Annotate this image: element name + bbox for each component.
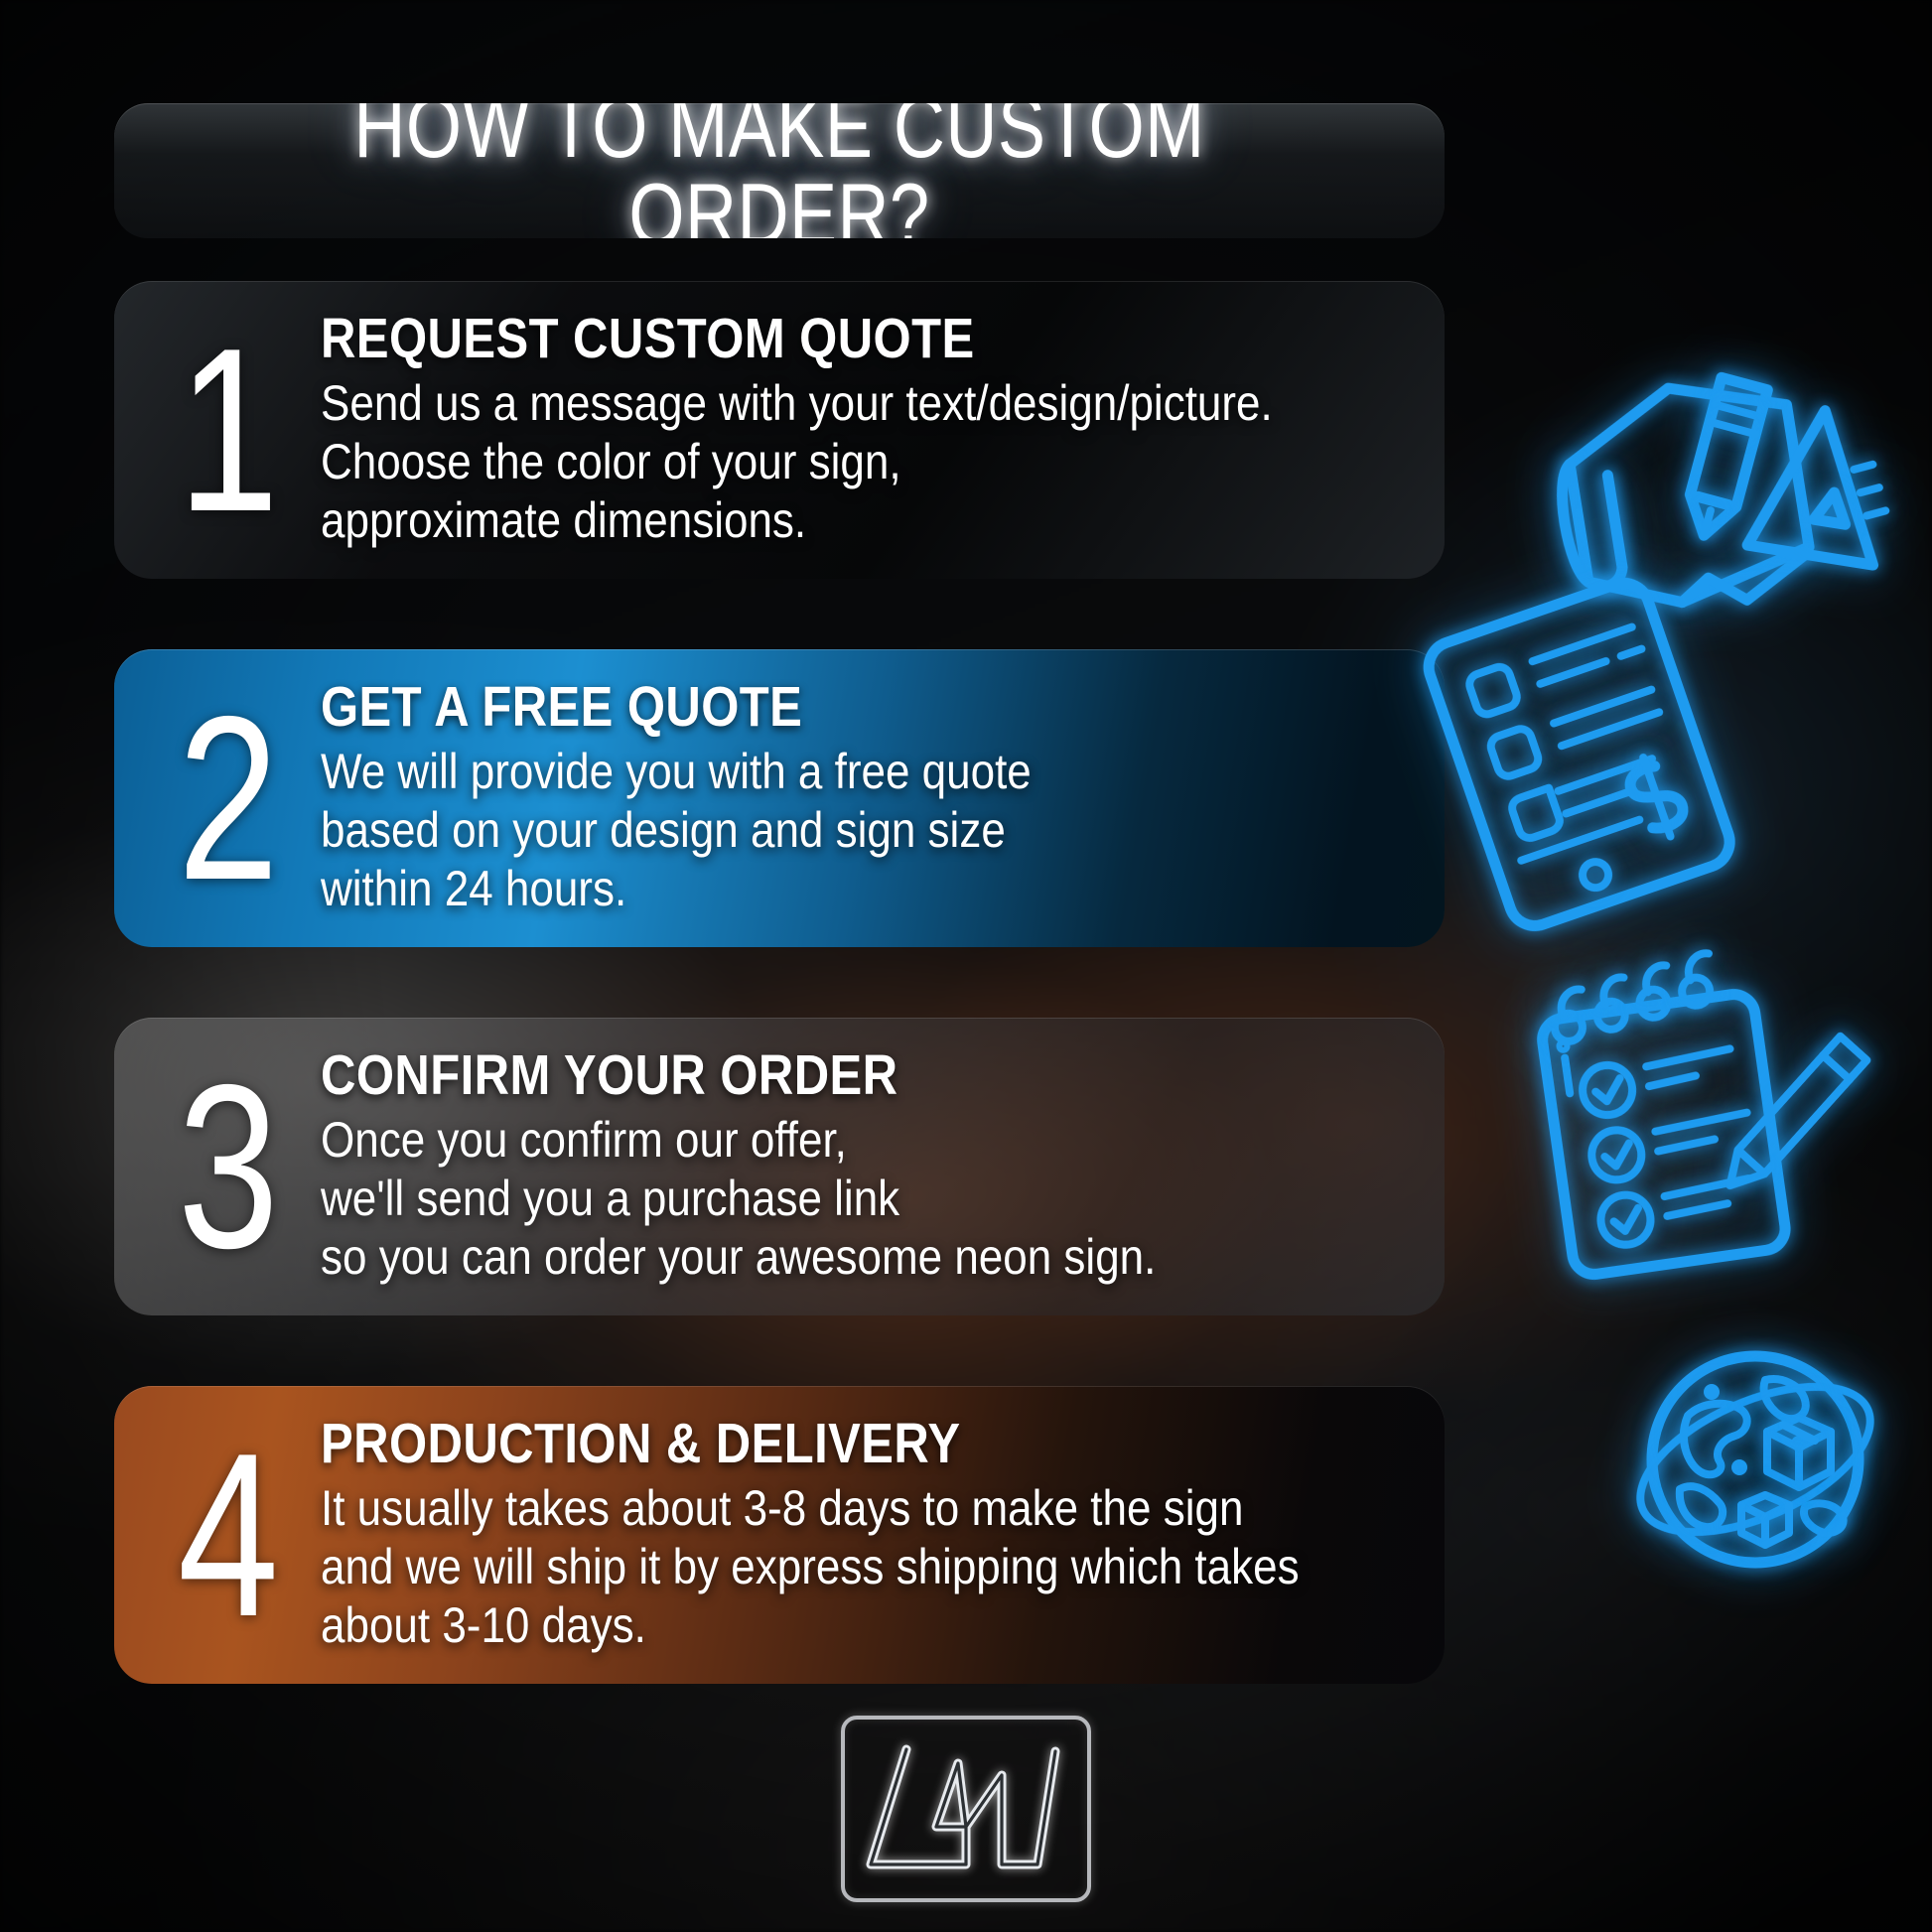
infographic-canvas: HOW TO MAKE CUSTOM ORDER? 1 REQUEST CUST…: [0, 0, 1932, 1932]
step-description-line: about 3-10 days.: [321, 1596, 1300, 1655]
step-body-1: REQUEST CUSTOM QUOTE Send us a message w…: [321, 310, 1445, 551]
step-description-line: within 24 hours.: [321, 860, 1284, 918]
step-card-2: 2 GET A FREE QUOTE We will provide you w…: [114, 649, 1445, 947]
footer-logo: [841, 1716, 1091, 1902]
step-description-line: It usually takes about 3-8 days to make …: [321, 1479, 1300, 1538]
step-description-line: so you can order your awesome neon sign.: [321, 1228, 1284, 1287]
step-description-line: based on your design and sign size: [321, 801, 1284, 860]
title-card: HOW TO MAKE CUSTOM ORDER?: [114, 103, 1445, 238]
step-number-2: 2: [132, 693, 321, 903]
step-heading-4: PRODUCTION & DELIVERY: [321, 1415, 1433, 1474]
step-description-line: We will provide you with a free quote: [321, 743, 1284, 801]
step-heading-1: REQUEST CUSTOM QUOTE: [321, 310, 1415, 369]
step-number-3: 3: [132, 1061, 321, 1272]
step-body-3: CONFIRM YOUR ORDER Once you confirm our …: [321, 1046, 1445, 1288]
step-card-4: 4 PRODUCTION & DELIVERY It usually takes…: [114, 1386, 1445, 1684]
step-description-1: Send us a message with your text/design/…: [321, 374, 1415, 550]
step-description-line: Choose the color of your sign,: [321, 433, 1284, 491]
step-number-1: 1: [132, 325, 321, 535]
step-description-3: Once you confirm our offer, we'll send y…: [321, 1111, 1415, 1287]
step-description-line: Send us a message with your text/design/…: [321, 374, 1284, 433]
step-heading-3: CONFIRM YOUR ORDER: [321, 1046, 1415, 1106]
step-number-4: 4: [132, 1430, 321, 1640]
step-card-3: 3 CONFIRM YOUR ORDER Once you confirm ou…: [114, 1018, 1445, 1315]
step-description-4: It usually takes about 3-8 days to make …: [321, 1479, 1433, 1655]
step-description-line: and we will ship it by express shipping …: [321, 1538, 1300, 1596]
step-body-2: GET A FREE QUOTE We will provide you wit…: [321, 678, 1445, 919]
step-card-1: 1 REQUEST CUSTOM QUOTE Send us a message…: [114, 281, 1445, 579]
step-description-line: Once you confirm our offer,: [321, 1111, 1284, 1170]
page-title: HOW TO MAKE CUSTOM ORDER?: [114, 103, 1445, 238]
step-description-2: We will provide you with a free quote ba…: [321, 743, 1415, 918]
page-title-text: HOW TO MAKE CUSTOM ORDER?: [234, 103, 1325, 238]
step-description-line: approximate dimensions.: [321, 491, 1284, 550]
step-description-line: we'll send you a purchase link: [321, 1170, 1284, 1228]
step-heading-2: GET A FREE QUOTE: [321, 678, 1415, 738]
step-body-4: PRODUCTION & DELIVERY It usually takes a…: [321, 1415, 1445, 1656]
logo-frame: [841, 1716, 1091, 1902]
